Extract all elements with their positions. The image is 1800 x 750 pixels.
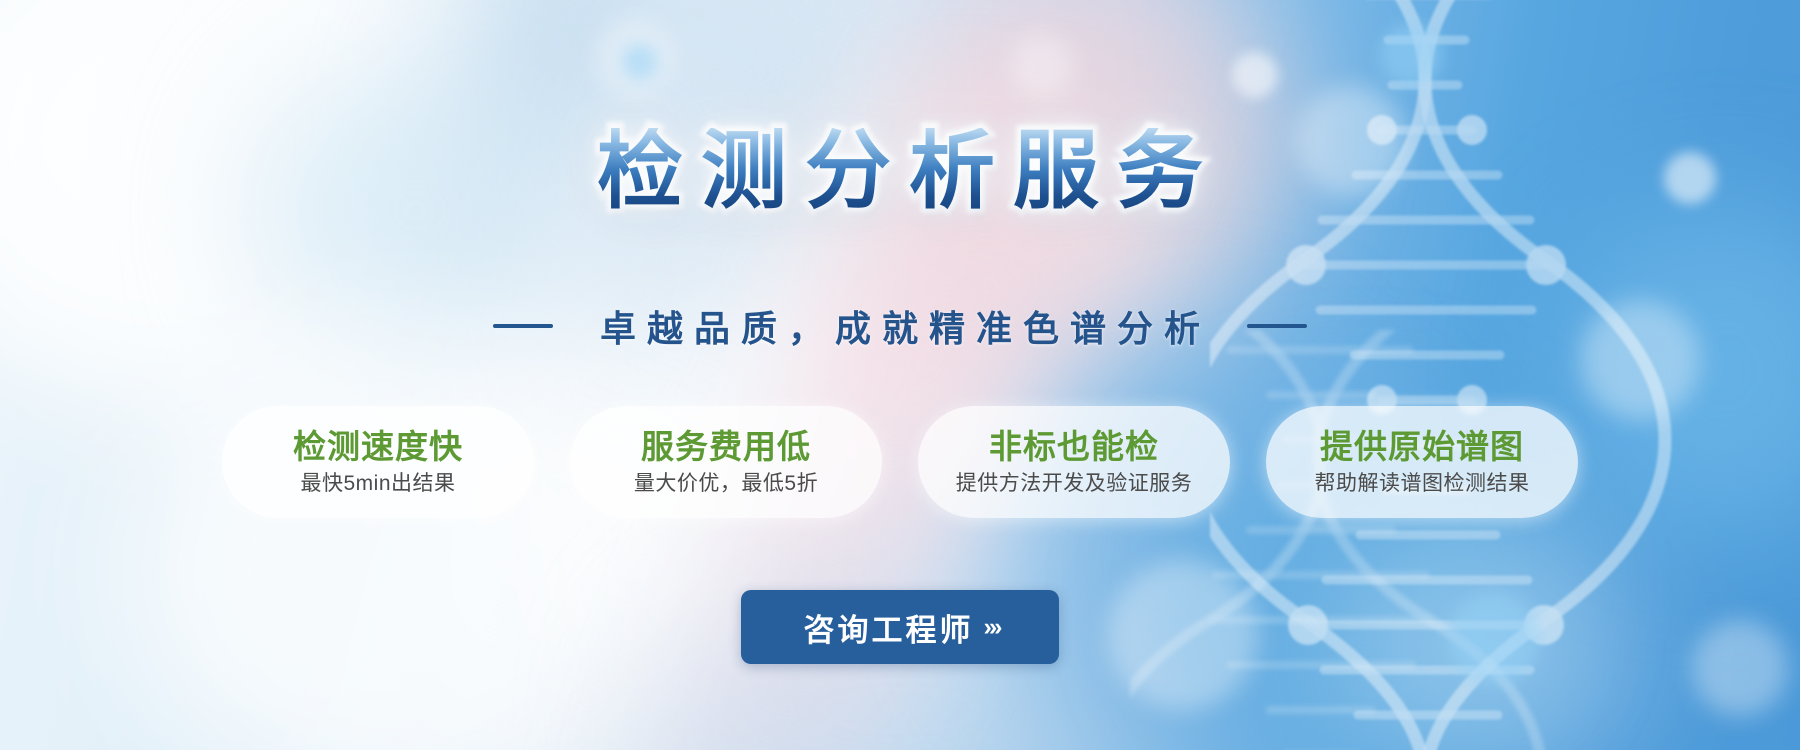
feature-list: 检测速度快 最快5min出结果 服务费用低 量大价优，最低5折 非标也能检 提供…: [0, 406, 1800, 518]
feature-title: 提供原始谱图: [1320, 428, 1524, 466]
cta-label: 咨询工程师: [801, 605, 974, 650]
feature-desc: 最快5min出结果: [300, 471, 455, 496]
feature-card-price[interactable]: 服务费用低 量大价优，最低5折: [570, 406, 882, 518]
feature-title: 非标也能检: [989, 428, 1159, 466]
detection-service-banner: 检测分析服务 检测分析服务 卓越品质，成就精准色谱分析 检测速度快 最快5min…: [0, 0, 1800, 750]
feature-title: 检测速度快: [293, 428, 463, 466]
feature-card-speed[interactable]: 检测速度快 最快5min出结果: [222, 406, 534, 518]
feature-card-nonstandard[interactable]: 非标也能检 提供方法开发及验证服务: [918, 406, 1230, 518]
feature-desc: 提供方法开发及验证服务: [956, 471, 1193, 496]
subtitle-text: 卓越品质，成就精准色谱分析: [589, 300, 1211, 352]
page-title: 检测分析服务: [0, 128, 1800, 214]
chevrons-right-icon: ›››: [984, 613, 1000, 642]
feature-title: 服务费用低: [641, 428, 811, 466]
dash-left-icon: [493, 324, 553, 328]
consult-engineer-button[interactable]: 咨询工程师 ›››: [741, 590, 1059, 664]
dash-right-icon: [1247, 324, 1307, 328]
cta-row: 咨询工程师 ›››: [0, 590, 1800, 664]
feature-desc: 帮助解读谱图检测结果: [1315, 471, 1530, 496]
feature-desc: 量大价优，最低5折: [634, 471, 818, 496]
feature-card-spectra[interactable]: 提供原始谱图 帮助解读谱图检测结果: [1266, 406, 1578, 518]
page-title-text: 检测分析服务: [579, 128, 1221, 214]
banner-content: 检测分析服务 检测分析服务 卓越品质，成就精准色谱分析 检测速度快 最快5min…: [0, 0, 1800, 750]
subtitle-row: 卓越品质，成就精准色谱分析: [0, 300, 1800, 352]
